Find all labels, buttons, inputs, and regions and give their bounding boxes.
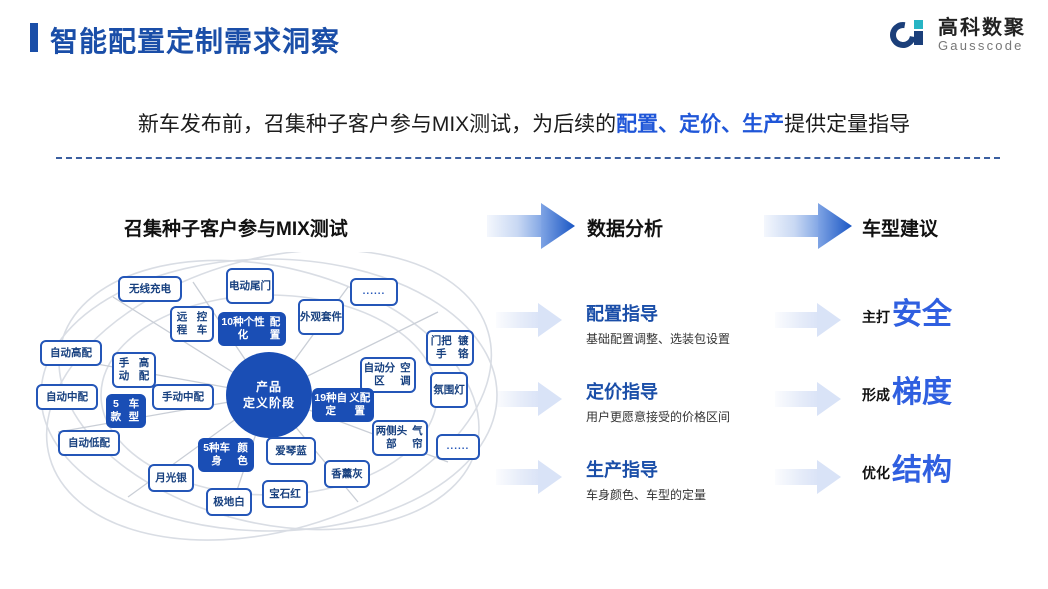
center-line-2: 定义阶段 bbox=[243, 395, 295, 411]
column-header-analysis: 数据分析 bbox=[587, 214, 663, 241]
row-arrow-icon-6 bbox=[775, 460, 841, 494]
mindmap-center-node: 产品 定义阶段 bbox=[226, 352, 312, 438]
logo-name-en: Gausscode bbox=[938, 39, 1026, 53]
advice-prefix: 主打 bbox=[862, 307, 890, 330]
mindmap-node[interactable]: 门把手镀铬 bbox=[426, 330, 474, 366]
mindmap-node[interactable]: ...... bbox=[350, 278, 398, 306]
flow-arrow-icon-1 bbox=[487, 203, 575, 249]
analysis-title: 配置指导 bbox=[586, 300, 730, 326]
analysis-item-production: 生产指导 车身颜色、车型的定量 bbox=[586, 456, 706, 503]
mindmap-node[interactable]: 氛围灯 bbox=[430, 372, 468, 408]
analysis-item-pricing: 定价指导 用户更愿意接受的价格区间 bbox=[586, 378, 730, 425]
slide-root: 智能配置定制需求洞察 高科数聚 Gausscode 新车发布前，召集种子客户参与… bbox=[0, 0, 1048, 589]
mindmap-node[interactable]: 无线充电 bbox=[118, 276, 182, 302]
mindmap-node[interactable]: 爱琴蓝 bbox=[266, 437, 316, 465]
analysis-desc: 基础配置调整、选装包设置 bbox=[586, 330, 730, 347]
page-title: 智能配置定制需求洞察 bbox=[50, 20, 340, 60]
subtitle-part1: 新车发布前，召集种子客户参与MIX测试，为后续的 bbox=[138, 113, 616, 136]
mindmap-node[interactable]: 自动高配 bbox=[40, 340, 102, 366]
advice-word: 结构 bbox=[892, 456, 952, 486]
row-arrow-icon-5 bbox=[775, 382, 841, 416]
advice-item-structure: 优化 结构 bbox=[862, 456, 952, 486]
mindmap-node[interactable]: 宝石红 bbox=[262, 480, 308, 508]
mindmap-node[interactable]: ...... bbox=[436, 434, 480, 460]
mindmap-node[interactable]: 手动高配 bbox=[112, 352, 156, 388]
mindmap-node[interactable]: 5款车型 bbox=[106, 394, 146, 428]
subtitle-highlight: 配置、定价、生产 bbox=[616, 113, 784, 136]
advice-prefix: 优化 bbox=[862, 463, 890, 486]
analysis-title: 生产指导 bbox=[586, 456, 706, 482]
row-arrow-icon-3 bbox=[496, 460, 562, 494]
dashed-divider bbox=[56, 157, 1000, 159]
row-arrow-icon-2 bbox=[496, 382, 562, 416]
analysis-desc: 用户更愿意接受的价格区间 bbox=[586, 408, 730, 425]
mindmap-node[interactable]: 自动低配 bbox=[58, 430, 120, 456]
mindmap-node[interactable]: 远程控车 bbox=[170, 306, 214, 342]
mindmap-node[interactable]: 电动尾门 bbox=[226, 268, 274, 304]
advice-item-safety: 主打 安全 bbox=[862, 300, 952, 330]
title-accent-bar bbox=[30, 23, 38, 52]
mindmap-node[interactable]: 外观套件 bbox=[298, 299, 344, 335]
advice-word: 梯度 bbox=[892, 378, 952, 408]
mindmap-node[interactable]: 10种个性化配置 bbox=[218, 312, 286, 346]
advice-item-gradient: 形成 梯度 bbox=[862, 378, 952, 408]
column-header-mix: 召集种子客户参与MIX测试 bbox=[124, 214, 348, 241]
brand-logo: 高科数聚 Gausscode bbox=[890, 18, 1026, 53]
row-arrow-icon-4 bbox=[775, 303, 841, 337]
logo-name-cn: 高科数聚 bbox=[938, 18, 1026, 39]
advice-word: 安全 bbox=[892, 300, 952, 330]
advice-prefix: 形成 bbox=[862, 385, 890, 408]
subtitle-part2: 提供定量指导 bbox=[784, 113, 910, 136]
mindmap-node[interactable]: 5种车身颜色 bbox=[198, 438, 254, 472]
mindmap-node[interactable]: 月光银 bbox=[148, 464, 194, 492]
center-line-1: 产品 bbox=[256, 379, 282, 395]
analysis-item-config: 配置指导 基础配置调整、选装包设置 bbox=[586, 300, 730, 347]
subtitle: 新车发布前，召集种子客户参与MIX测试，为后续的配置、定价、生产提供定量指导 bbox=[0, 108, 1048, 138]
column-header-advice: 车型建议 bbox=[862, 214, 938, 241]
mindmap-node[interactable]: 两侧头部气帘 bbox=[372, 420, 428, 456]
mindmap-node[interactable]: 手动中配 bbox=[152, 384, 214, 410]
analysis-desc: 车身颜色、车型的定量 bbox=[586, 486, 706, 503]
analysis-title: 定价指导 bbox=[586, 378, 730, 404]
row-arrow-icon-1 bbox=[496, 303, 562, 337]
gausscode-logo-icon bbox=[890, 18, 930, 52]
mindmap-diagram: 产品 定义阶段 无线充电 电动尾门 ...... 远程控车 10种个性化配置 外… bbox=[18, 252, 498, 542]
mindmap-node[interactable]: 极地白 bbox=[206, 488, 252, 516]
mindmap-node[interactable]: 自动中配 bbox=[36, 384, 98, 410]
mindmap-node[interactable]: 19种自定义配置 bbox=[312, 388, 374, 422]
mindmap-node[interactable]: 香薰灰 bbox=[324, 460, 370, 488]
flow-arrow-icon-2 bbox=[764, 203, 852, 249]
